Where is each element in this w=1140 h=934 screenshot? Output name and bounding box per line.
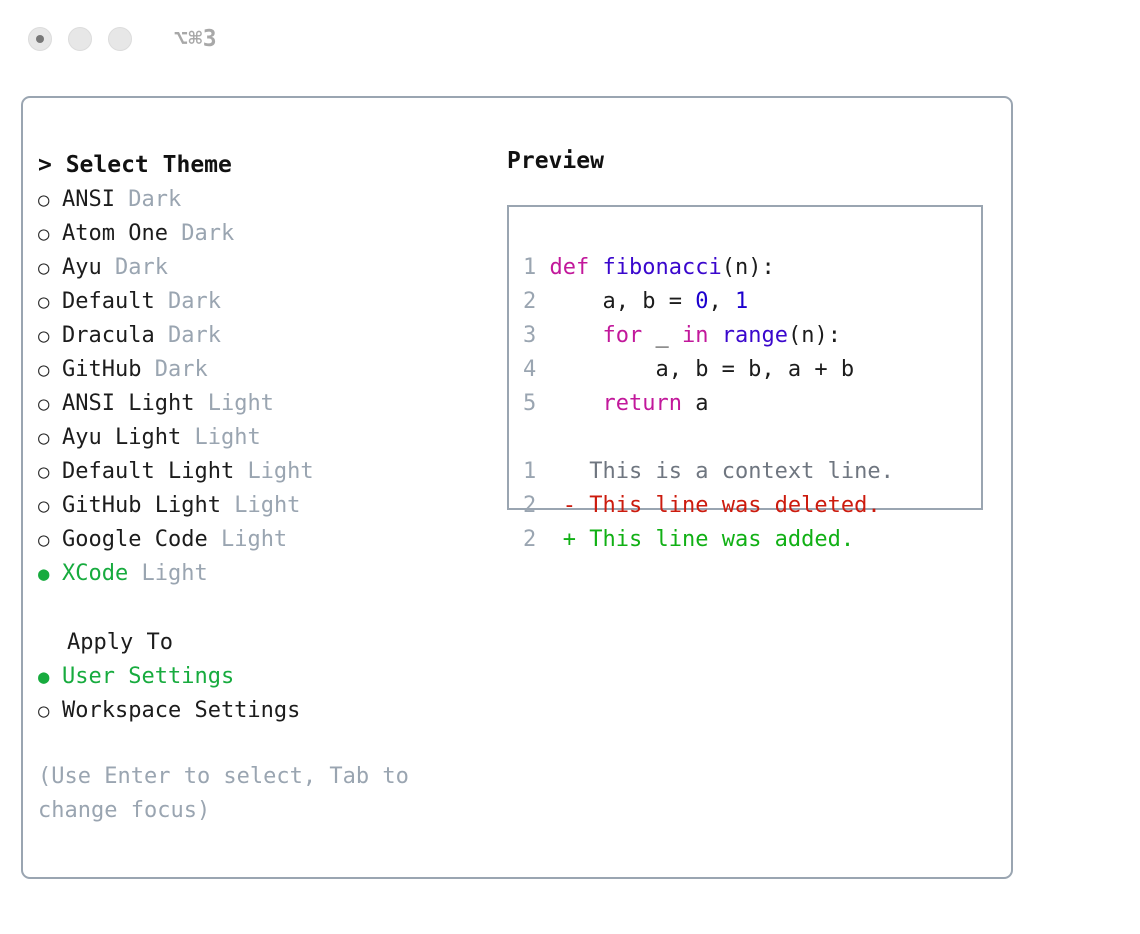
theme-option-github-light[interactable]: ○GitHub Light Light	[38, 489, 503, 523]
preview-heading: Preview	[503, 148, 1011, 174]
code-line: 5 return a	[509, 387, 981, 421]
apply-to-heading: Apply To	[38, 626, 503, 660]
code-token-plain: a, b =	[550, 289, 696, 314]
radio-selected-icon: ●	[38, 660, 62, 694]
code-line: 2 a, b = 0, 1	[509, 285, 981, 319]
code-line: 3 for _ in range(n):	[509, 319, 981, 353]
diff-line-add: 2 + This line was added.	[509, 523, 981, 557]
apply-to-option-user-settings[interactable]: ●User Settings	[38, 660, 503, 694]
theme-option-name: Default	[62, 285, 155, 319]
theme-list: ○ANSI Dark○Atom One Dark○Ayu Dark○Defaul…	[38, 183, 503, 591]
diff-line-number: 2	[523, 493, 536, 518]
theme-option-default-light[interactable]: ○Default Light Light	[38, 455, 503, 489]
theme-option-github[interactable]: ○GitHub Dark	[38, 353, 503, 387]
theme-option-kind: Light	[208, 387, 274, 421]
theme-option-name: ANSI Light	[62, 387, 194, 421]
theme-option-name: Dracula	[62, 319, 155, 353]
theme-option-kind: Light	[234, 489, 300, 523]
code-token-plain	[550, 323, 603, 348]
radio-unselected-icon: ○	[38, 183, 62, 217]
radio-unselected-icon: ○	[38, 353, 62, 387]
apply-to-option-list: ●User Settings○Workspace Settings	[38, 660, 503, 728]
theme-option-kind: Light	[221, 523, 287, 557]
preview-code-box: 1 def fibonacci(n):2 a, b = 0, 13 for _ …	[507, 205, 983, 510]
radio-unselected-icon: ○	[38, 455, 62, 489]
code-line: 4 a, b = b, a + b	[509, 353, 981, 387]
theme-option-kind: Light	[247, 455, 313, 489]
theme-name-kind-separator	[168, 217, 181, 251]
theme-option-kind: Dark	[168, 319, 221, 353]
code-token-kw: return	[602, 391, 681, 416]
theme-name-kind-separator	[115, 183, 128, 217]
radio-unselected-icon: ○	[38, 421, 62, 455]
diff-line-number: 1	[523, 459, 536, 484]
code-token-fn: range	[722, 323, 788, 348]
window-dot-active[interactable]	[28, 27, 52, 51]
theme-option-kind: Light	[194, 421, 260, 455]
window-dot-third[interactable]	[108, 27, 132, 51]
code-line-number: 2	[523, 289, 536, 314]
window-dot-active-indicator	[36, 35, 44, 43]
theme-name-kind-separator	[221, 489, 234, 523]
code-token-num: 1	[735, 289, 748, 314]
theme-name-kind-separator	[128, 557, 141, 591]
theme-option-ansi[interactable]: ○ANSI Dark	[38, 183, 503, 217]
diff-marker	[563, 459, 590, 484]
code-token-kw: def	[550, 255, 603, 280]
gutter-gap	[536, 323, 549, 348]
theme-name-kind-separator	[155, 285, 168, 319]
code-token-kw: for	[602, 323, 642, 348]
diff-sample: 1 This is a context line.2 - This line w…	[509, 455, 981, 557]
apply-to-option-workspace-settings[interactable]: ○Workspace Settings	[38, 694, 503, 728]
theme-option-name: Atom One	[62, 217, 168, 251]
theme-name-kind-separator	[208, 523, 221, 557]
code-line-number: 5	[523, 391, 536, 416]
gutter-gap	[536, 459, 563, 484]
theme-option-google-code[interactable]: ○Google Code Light	[38, 523, 503, 557]
theme-option-name: GitHub	[62, 353, 141, 387]
code-token-plain	[708, 323, 721, 348]
theme-selector-column: > Select Theme ○ANSI Dark○Atom One Dark○…	[23, 98, 503, 877]
theme-option-name: XCode	[62, 557, 128, 591]
code-token-num: 0	[695, 289, 708, 314]
code-token-plain: (n):	[722, 255, 775, 280]
radio-unselected-icon: ○	[38, 217, 62, 251]
theme-option-name: Default Light	[62, 455, 234, 489]
theme-option-kind: Dark	[181, 217, 234, 251]
theme-option-kind: Dark	[128, 183, 181, 217]
code-token-plain: _	[642, 323, 682, 348]
gutter-gap	[536, 255, 549, 280]
theme-name-kind-separator	[194, 387, 207, 421]
theme-option-xcode[interactable]: ●XCode Light	[38, 557, 503, 591]
select-theme-heading: > Select Theme	[38, 148, 503, 182]
theme-name-kind-separator	[155, 319, 168, 353]
radio-unselected-icon: ○	[38, 523, 62, 557]
apply-to-section: Apply To ●User Settings○Workspace Settin…	[38, 626, 503, 728]
radio-unselected-icon: ○	[38, 694, 62, 728]
gutter-gap	[536, 357, 549, 382]
panel-content: > Select Theme ○ANSI Dark○Atom One Dark○…	[23, 98, 1011, 877]
radio-unselected-icon: ○	[38, 387, 62, 421]
diff-text: This line was added.	[589, 527, 854, 552]
code-line: 1 def fibonacci(n):	[509, 251, 981, 285]
gutter-gap	[536, 493, 563, 518]
radio-selected-icon: ●	[38, 557, 62, 591]
apply-to-option-label: User Settings	[62, 660, 234, 694]
theme-option-kind: Dark	[115, 251, 168, 285]
keyboard-hint-text: (Use Enter to select, Tab to change focu…	[38, 760, 448, 828]
main-panel: > Select Theme ○ANSI Dark○Atom One Dark○…	[21, 96, 1013, 879]
diff-text: This is a context line.	[589, 459, 894, 484]
code-token-kw: in	[682, 323, 709, 348]
theme-option-kind: Light	[141, 557, 207, 591]
gutter-gap	[536, 391, 549, 416]
diff-line-del: 2 - This line was deleted.	[509, 489, 981, 523]
gutter-gap	[536, 289, 549, 314]
radio-unselected-icon: ○	[38, 489, 62, 523]
theme-name-kind-separator	[141, 353, 154, 387]
window-titlebar: ⌥⌘3	[0, 0, 1140, 78]
app-root: ⌥⌘3 > Select Theme ○ANSI Dark○Atom One D…	[0, 0, 1140, 934]
code-diff-spacer	[509, 421, 981, 455]
window-dot-second[interactable]	[68, 27, 92, 51]
theme-option-ayu-light[interactable]: ○Ayu Light Light	[38, 421, 503, 455]
code-token-plain: ,	[708, 289, 735, 314]
theme-option-kind: Dark	[155, 353, 208, 387]
theme-option-ayu[interactable]: ○Ayu Dark	[38, 251, 503, 285]
code-line-number: 3	[523, 323, 536, 348]
radio-unselected-icon: ○	[38, 285, 62, 319]
theme-option-name: GitHub Light	[62, 489, 221, 523]
code-token-plain: a, b = b, a + b	[550, 357, 855, 382]
code-token-plain: a	[682, 391, 709, 416]
diff-line-ctx: 1 This is a context line.	[509, 455, 981, 489]
code-line-number: 1	[523, 255, 536, 280]
code-line-number: 4	[523, 357, 536, 382]
diff-line-number: 2	[523, 527, 536, 552]
code-token-plain	[550, 391, 603, 416]
theme-option-kind: Dark	[168, 285, 221, 319]
keyboard-shortcut-label: ⌥⌘3	[174, 26, 217, 52]
radio-unselected-icon: ○	[38, 251, 62, 285]
code-token-fn: fibonacci	[602, 255, 721, 280]
theme-option-name: Google Code	[62, 523, 208, 557]
gutter-gap	[536, 527, 563, 552]
theme-option-dracula[interactable]: ○Dracula Dark	[38, 319, 503, 353]
theme-option-name: Ayu	[62, 251, 102, 285]
diff-marker: -	[563, 493, 590, 518]
theme-option-name: ANSI	[62, 183, 115, 217]
apply-to-option-label: Workspace Settings	[62, 694, 300, 728]
theme-option-ansi-light[interactable]: ○ANSI Light Light	[38, 387, 503, 421]
diff-text: This line was deleted.	[589, 493, 880, 518]
theme-option-default[interactable]: ○Default Dark	[38, 285, 503, 319]
theme-option-name: Ayu Light	[62, 421, 181, 455]
theme-name-kind-separator	[102, 251, 115, 285]
code-sample: 1 def fibonacci(n):2 a, b = 0, 13 for _ …	[509, 251, 981, 421]
diff-marker: +	[563, 527, 590, 552]
radio-unselected-icon: ○	[38, 319, 62, 353]
theme-option-atom-one[interactable]: ○Atom One Dark	[38, 217, 503, 251]
theme-name-kind-separator	[181, 421, 194, 455]
code-token-plain: (n):	[788, 323, 841, 348]
theme-name-kind-separator	[234, 455, 247, 489]
preview-column: Preview 1 def fibonacci(n):2 a, b = 0, 1…	[503, 98, 1011, 877]
